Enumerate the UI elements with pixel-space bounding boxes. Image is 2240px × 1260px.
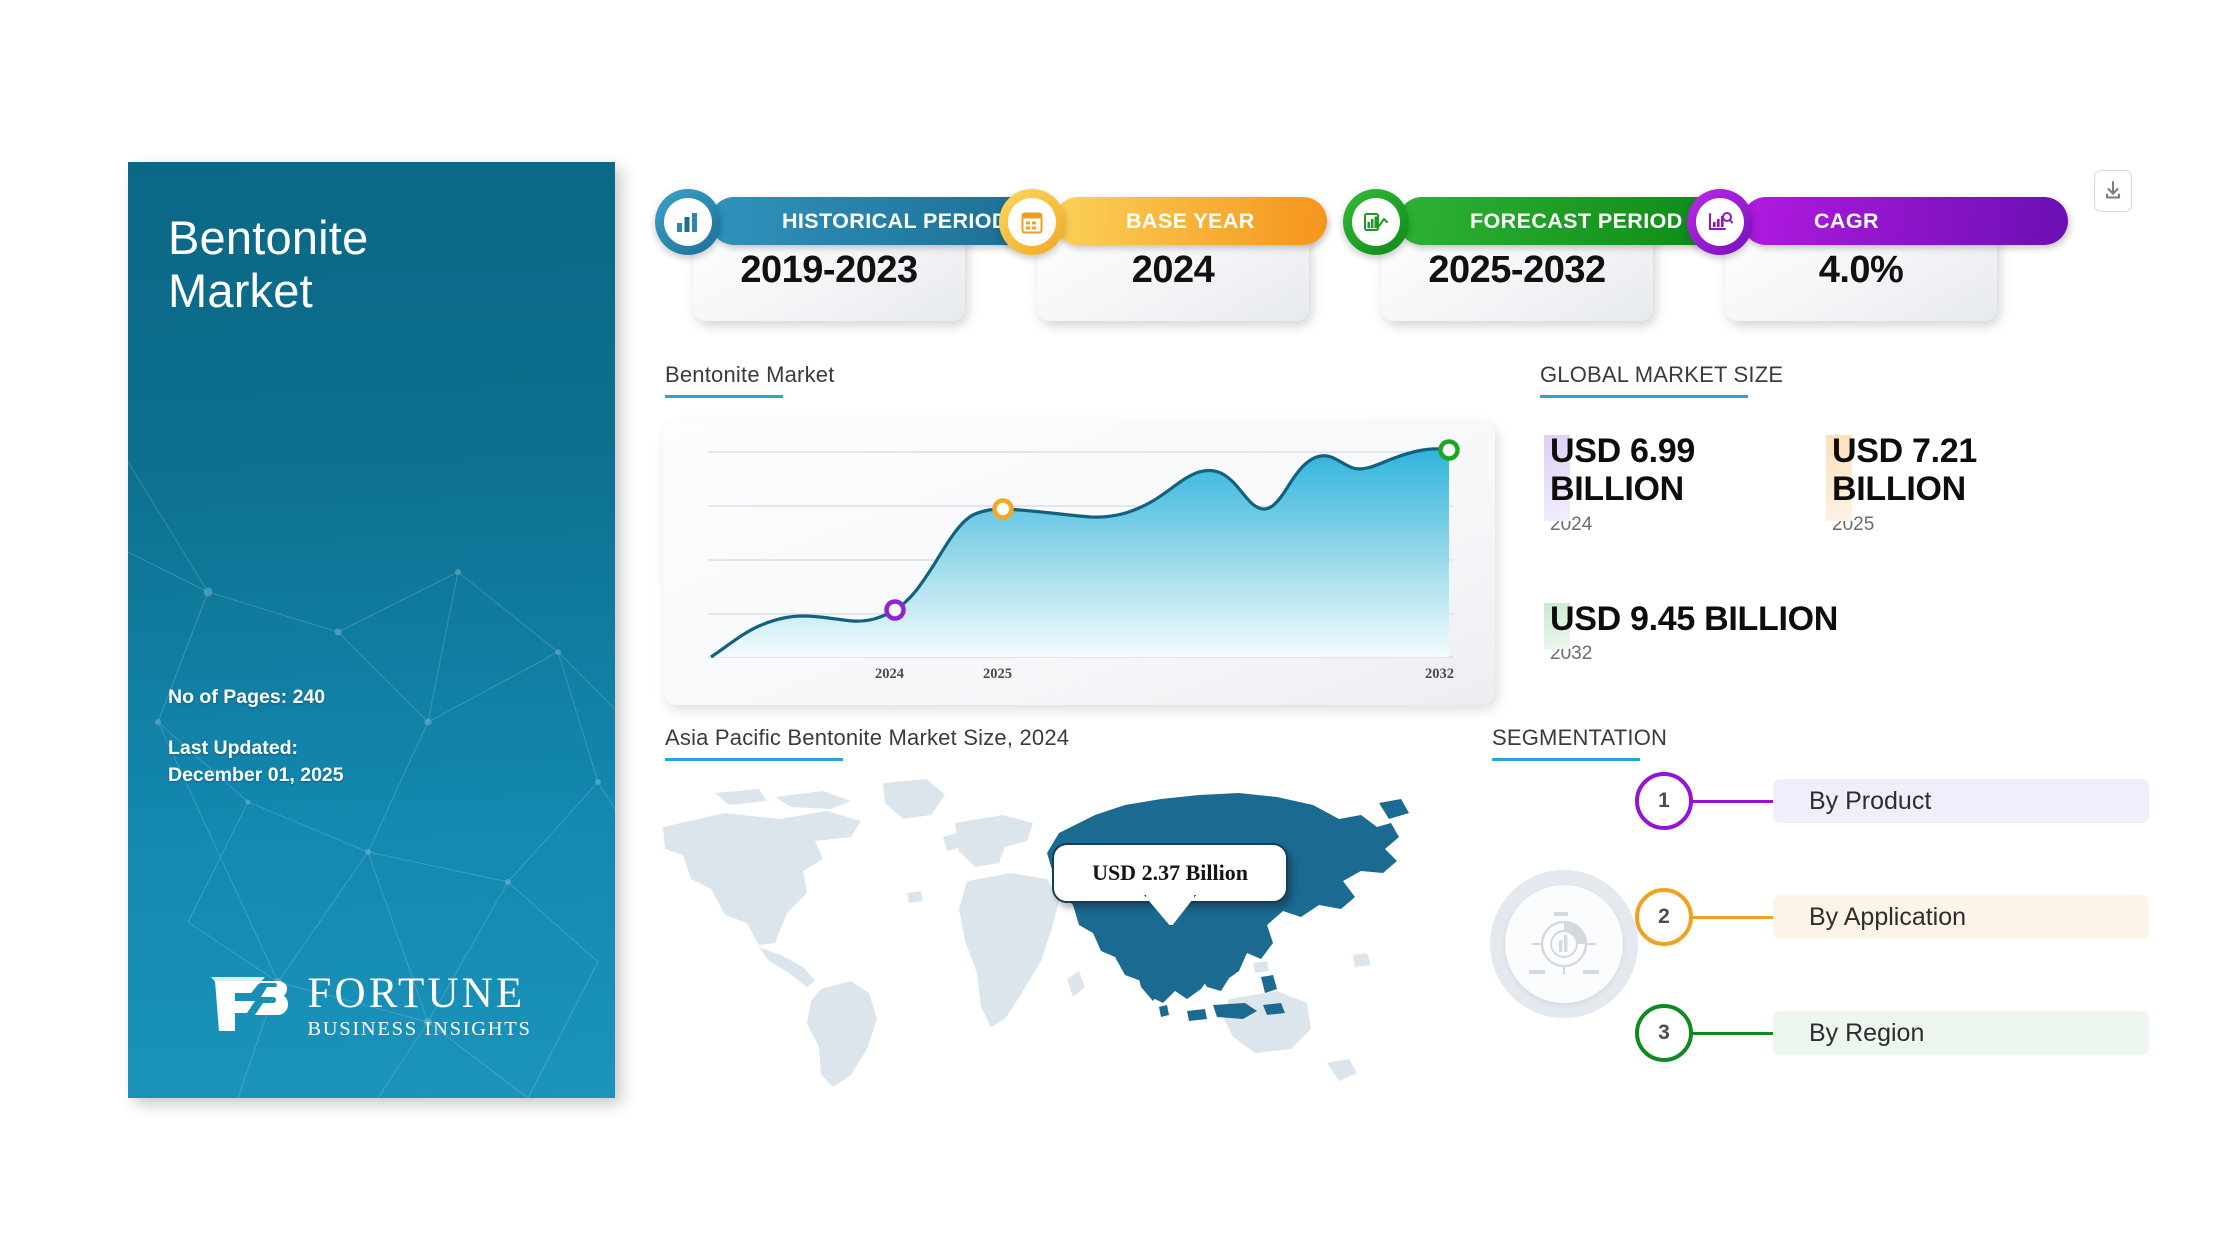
map-heading: Asia Pacific Bentonite Market Size, 2024: [665, 725, 1069, 761]
market-size-heading: GLOBAL MARKET SIZE: [1540, 362, 1783, 398]
badge-value: 2025-2032: [1381, 249, 1653, 292]
chart-marker-2024: [887, 602, 904, 619]
map-tooltip-value: USD 2.37 Billion: [1092, 860, 1248, 886]
sidebar-panel: Bentonite Market No of Pages: 240 Last U…: [128, 162, 615, 1098]
segmentation-list: 1 By Product 2 By Application 3 By Regio…: [1490, 770, 2150, 1070]
stat-badges: HISTORICAL PERIOD 2019-2023 BASE YEAR: [655, 175, 2055, 325]
chart-xtick-2025: 2025: [983, 666, 1012, 683]
market-size-value: USD 6.99 BILLION: [1544, 432, 1770, 509]
download-icon: [2103, 180, 2123, 202]
segmentation-connector: [1689, 800, 1781, 803]
segmentation-connector: [1689, 916, 1781, 919]
badge-value: 2019-2023: [693, 249, 965, 292]
badge-label: FORECAST PERIOD: [1470, 209, 1683, 234]
badge-base-year: BASE YEAR 2024: [999, 197, 1309, 321]
logo-secondary-text: BUSINESS INSIGHTS: [307, 1019, 531, 1040]
segmentation-connector: [1689, 1032, 1781, 1035]
segmentation-heading: SEGMENTATION: [1492, 725, 1667, 761]
badge-pill: HISTORICAL PERIOD: [710, 197, 1043, 245]
badge-icon-ring: [999, 189, 1065, 255]
badge-icon-inner: [1352, 198, 1400, 246]
badge-icon-ring: [1687, 189, 1753, 255]
badge-icon-inner: [1696, 198, 1744, 246]
market-size-year: 2024: [1550, 514, 1794, 536]
market-size-item-2032: USD 9.45 BILLION 2032: [1544, 600, 2104, 665]
segmentation-item-by-application[interactable]: 2 By Application: [1635, 886, 2149, 948]
badge-icon-ring: [655, 189, 721, 255]
badge-label: HISTORICAL PERIOD: [782, 209, 1008, 234]
badge-forecast-period: FORECAST PERIOD 2025-2032: [1343, 197, 1653, 321]
map-tooltip-box: USD 2.37 Billion: [1052, 843, 1288, 903]
segmentation-number: 1: [1635, 772, 1693, 830]
badge-label: CAGR: [1814, 209, 1879, 234]
map-heading-text: Asia Pacific Bentonite Market Size, 2024: [665, 725, 1069, 750]
forecast-chart-icon: [1363, 210, 1389, 234]
segmentation-icon-badge: [1490, 870, 1638, 1018]
segmentation-heading-text: SEGMENTATION: [1492, 725, 1667, 750]
segmentation-label: By Product: [1773, 779, 2149, 823]
world-map-svg: [655, 775, 1415, 1095]
badge-icon-inner: [1008, 198, 1056, 246]
last-updated: Last Updated: December 01, 2025: [168, 735, 344, 788]
market-area-chart: 2024 2025 2032: [663, 420, 1495, 705]
page-title: Bentonite Market: [168, 212, 588, 317]
growth-analysis-icon: [1707, 210, 1733, 234]
badge-pill: CAGR: [1742, 197, 2068, 245]
market-size-value: USD 7.21 BILLION: [1826, 432, 2052, 509]
badge-icon-inner: [664, 198, 712, 246]
fortune-logo-icon: [211, 975, 293, 1037]
chart-area-fill: [711, 449, 1449, 657]
segmentation-label: By Region: [1773, 1011, 2149, 1055]
segmentation-donut-icon: [1528, 908, 1600, 980]
chart-marker-2025: [995, 501, 1012, 518]
market-size-year: 2032: [1550, 643, 2104, 665]
segmentation-label: By Application: [1773, 895, 2149, 939]
map-heading-underline: [665, 758, 843, 761]
map-tooltip: USD 2.37 Billion: [1052, 843, 1284, 899]
badge-label: BASE YEAR: [1126, 209, 1255, 234]
segmentation-item-by-product[interactable]: 1 By Product: [1635, 770, 2149, 832]
calendar-icon: [1020, 210, 1044, 235]
badge-value: 2024: [1037, 249, 1309, 292]
chart-xtick-2024: 2024: [875, 666, 904, 683]
badge-pill: FORECAST PERIOD: [1398, 197, 1724, 245]
market-size-item-2025: USD 7.21 BILLION 2025: [1826, 432, 2076, 536]
chart-svg: [663, 420, 1495, 705]
market-size-heading-underline: [1540, 395, 1748, 398]
chart-xtick-2032: 2032: [1425, 666, 1454, 683]
chart-heading-underline: [665, 395, 783, 398]
chart-heading: Bentonite Market: [665, 362, 835, 398]
badge-historical-period: HISTORICAL PERIOD 2019-2023: [655, 197, 965, 321]
map-highlight-asia-pacific: [1047, 793, 1409, 1021]
badge-pill: BASE YEAR: [1054, 197, 1327, 245]
segmentation-number: 3: [1635, 1004, 1693, 1062]
market-size-value: USD 9.45 BILLION: [1544, 600, 1838, 638]
badge-cagr: CAGR 4.0%: [1687, 197, 1997, 321]
world-map: [655, 775, 1415, 1095]
segmentation-heading-underline: [1492, 758, 1640, 761]
bar-chart-icon: [675, 210, 701, 234]
chart-marker-2032: [1441, 442, 1458, 459]
badge-value: 4.0%: [1725, 249, 1997, 292]
segmentation-item-by-region[interactable]: 3 By Region: [1635, 1002, 2149, 1064]
segmentation-number: 2: [1635, 888, 1693, 946]
brand-logo: FORTUNE BUSINESS INSIGHTS: [128, 972, 615, 1040]
pages-count: No of Pages: 240: [168, 684, 325, 711]
logo-primary-text: FORTUNE: [307, 972, 531, 1015]
badge-icon-ring: [1343, 189, 1409, 255]
market-size-item-2024: USD 6.99 BILLION 2024: [1544, 432, 1794, 536]
market-size-heading-text: GLOBAL MARKET SIZE: [1540, 362, 1783, 387]
download-button[interactable]: [2094, 170, 2132, 212]
market-size-year: 2025: [1832, 514, 2076, 536]
segmentation-icon-inner: [1505, 885, 1623, 1003]
chart-heading-text: Bentonite Market: [665, 362, 835, 387]
